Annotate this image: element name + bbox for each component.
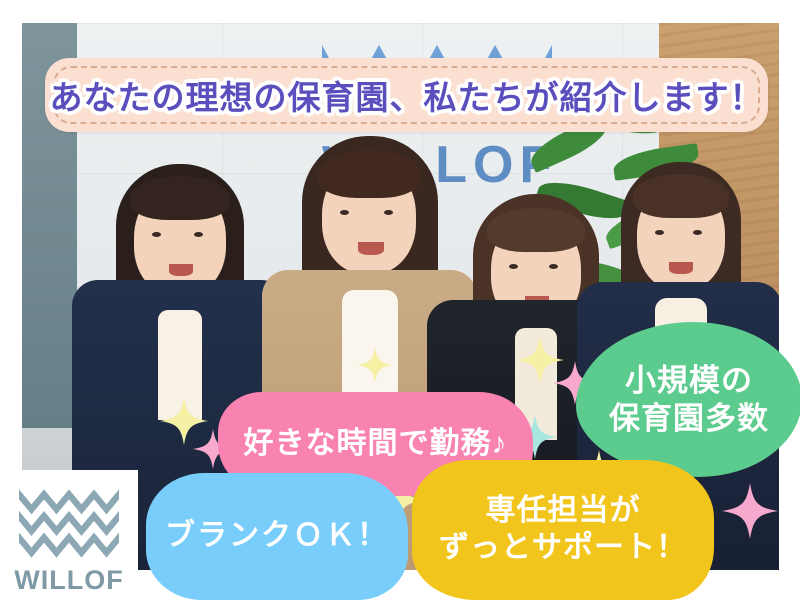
- badge-line: 好きな時間で勤務♪: [244, 426, 508, 463]
- promo-banner-canvas: WILLOF: [0, 0, 800, 600]
- badge-line: 専任担当が: [439, 493, 687, 530]
- willof-wordmark: WILLOF: [0, 565, 138, 596]
- badge-line: ブランクＯＫ！: [165, 518, 389, 555]
- headline-banner: あなたの理想の保育園、私たちが紹介します！: [45, 58, 768, 132]
- badge-blank-ok[interactable]: ブランクＯＫ！: [146, 473, 408, 600]
- sparkle-icon: [357, 345, 393, 385]
- badge-line: ずっとサポート！: [439, 530, 687, 567]
- badge-dedicated-support[interactable]: 専任担当が ずっとサポート！: [412, 460, 714, 600]
- sparkle-icon: [722, 480, 778, 542]
- willof-zigzag-icon: [19, 486, 119, 558]
- badge-line: 保育園多数: [609, 400, 769, 438]
- willof-logo-card[interactable]: WILLOF: [0, 470, 138, 600]
- headline-text: あなたの理想の保育園、私たちが紹介します！: [45, 58, 768, 132]
- badge-line: 小規模の: [609, 362, 769, 400]
